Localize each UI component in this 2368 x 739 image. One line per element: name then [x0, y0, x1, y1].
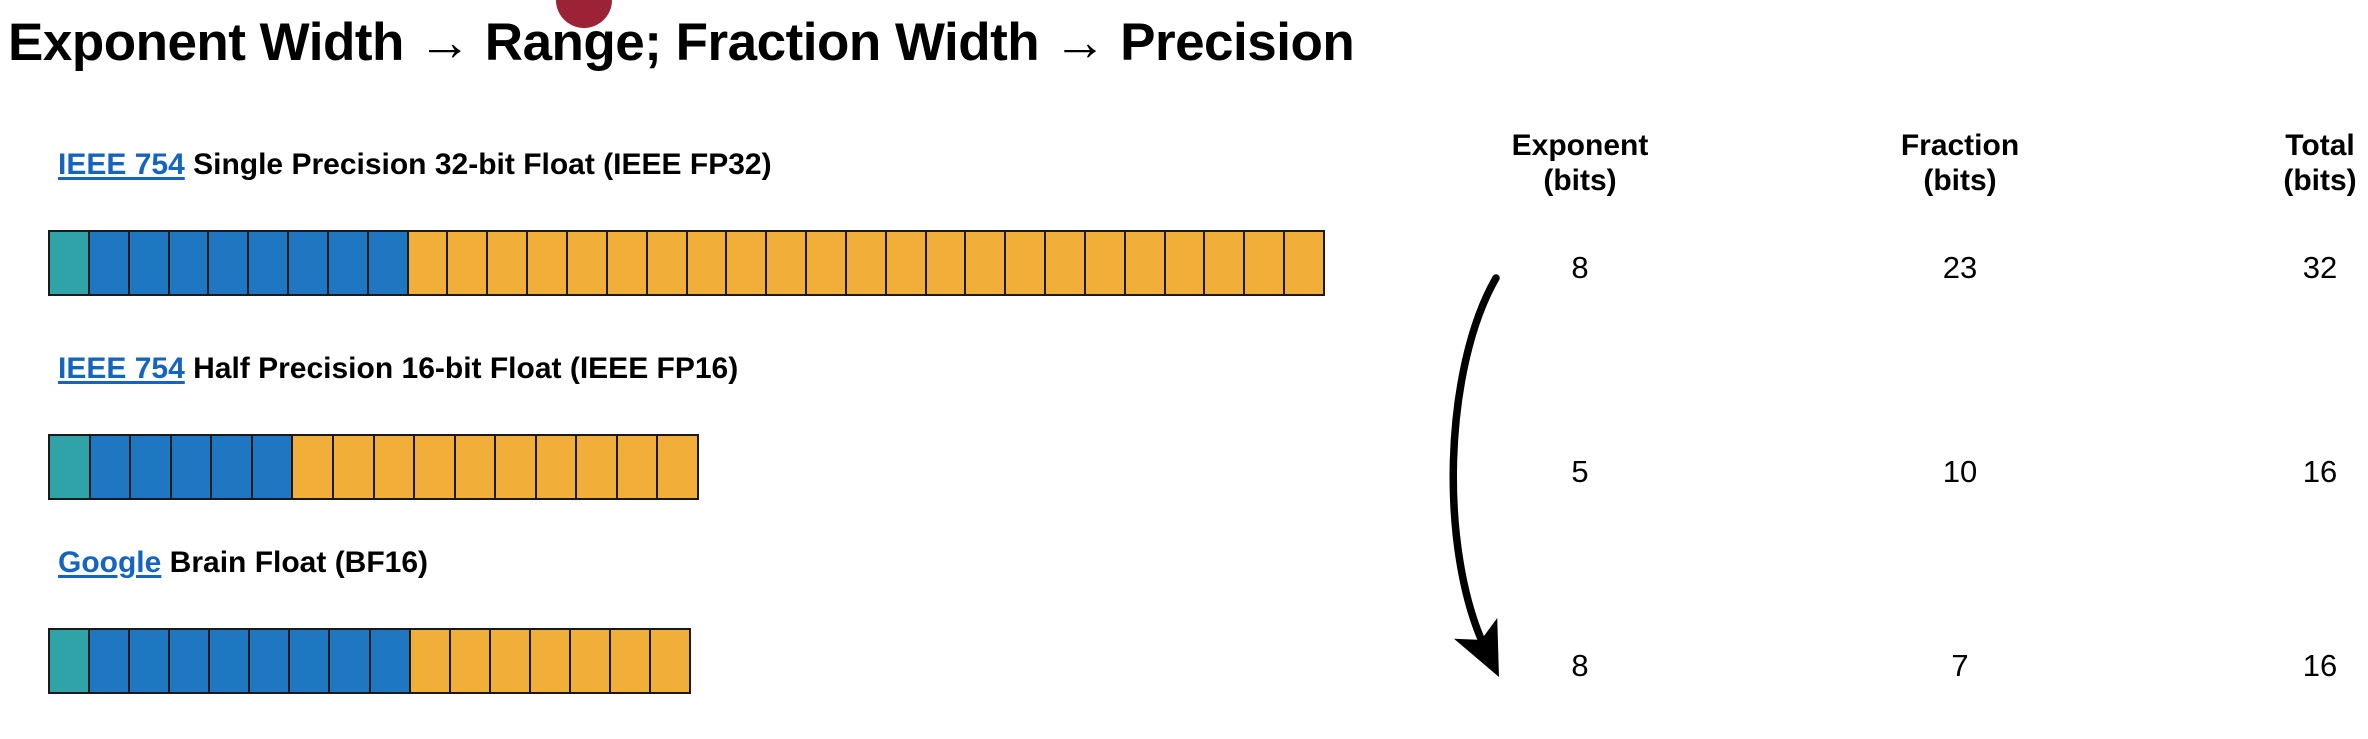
fraction-bit-cell [648, 232, 688, 294]
fraction-bit-cell [409, 232, 449, 294]
fraction-bit-cell [334, 436, 375, 498]
column-header-exponent-name: Exponent [1512, 129, 1649, 162]
format-link-fp32[interactable]: IEEE 754 [58, 148, 185, 181]
format-label-text-bf16: Brain Float (BF16) [161, 546, 428, 579]
table-cell-fraction: 23 [1820, 250, 2100, 286]
exponent-bit-cell [371, 630, 411, 692]
exponent-bit-cell [131, 436, 172, 498]
exponent-bit-cell [209, 232, 249, 294]
fraction-bit-cell [807, 232, 847, 294]
sign-bit-cell [50, 630, 90, 692]
exponent-bit-cell [249, 232, 289, 294]
fraction-bit-cell [456, 436, 497, 498]
table-cell-fraction: 7 [1820, 648, 2100, 684]
column-header-total-unit: (bits) [2180, 163, 2368, 198]
fraction-bit-cell [568, 232, 608, 294]
fraction-bit-cell [887, 232, 927, 294]
bit-layout-bar-fp32 [48, 230, 1325, 296]
exponent-bit-cell [250, 630, 290, 692]
column-header-exponent: Exponent (bits) [1440, 128, 1720, 199]
exponent-bit-cell [290, 630, 330, 692]
fraction-bit-cell [411, 630, 451, 692]
sign-bit-cell [50, 436, 91, 498]
fraction-bit-cell [528, 232, 568, 294]
fraction-bit-cell [1205, 232, 1245, 294]
fraction-bit-cell [651, 630, 689, 692]
fraction-bit-cell [727, 232, 767, 294]
table-cell-total: 32 [2180, 250, 2368, 286]
fraction-bit-cell [1285, 232, 1323, 294]
fraction-bit-cell [571, 630, 611, 692]
exponent-bit-cell [172, 436, 213, 498]
fraction-bit-cell [611, 630, 651, 692]
table-cell-exponent: 8 [1440, 648, 1720, 684]
fraction-bit-cell [496, 436, 537, 498]
exponent-bit-cell [90, 232, 130, 294]
fraction-bit-cell [1126, 232, 1166, 294]
fraction-bit-cell [1245, 232, 1285, 294]
table-cell-total: 16 [2180, 648, 2368, 684]
column-header-total-name: Total [2285, 129, 2354, 162]
slide-canvas: Exponent Width → Range; Fraction Width →… [0, 0, 2368, 739]
fraction-bit-cell [1046, 232, 1086, 294]
exponent-bit-cell [329, 232, 369, 294]
fraction-bit-cell [577, 436, 618, 498]
fraction-bit-cell [618, 436, 659, 498]
table-cell-exponent: 5 [1440, 454, 1720, 490]
fraction-bit-cell [608, 232, 648, 294]
exponent-bit-cell [170, 232, 210, 294]
table-cell-exponent: 8 [1440, 250, 1720, 286]
format-link-fp16[interactable]: IEEE 754 [58, 352, 185, 385]
bit-width-table: Exponent (bits) Fraction (bits) Total (b… [1400, 0, 2368, 739]
exponent-bit-cell [170, 630, 210, 692]
fraction-bit-cell [375, 436, 416, 498]
fraction-bit-cell [537, 436, 578, 498]
fraction-bit-cell [491, 630, 531, 692]
exponent-bit-cell [253, 436, 294, 498]
fraction-bit-cell [1166, 232, 1206, 294]
exponent-bit-cell [130, 232, 170, 294]
fraction-bit-cell [927, 232, 967, 294]
fraction-bit-cell [293, 436, 334, 498]
exponent-bit-cell [130, 630, 170, 692]
exponent-bit-cell [289, 232, 329, 294]
fraction-bit-cell [448, 232, 488, 294]
format-label-text-fp32: Single Precision 32-bit Float (IEEE FP32… [185, 148, 772, 181]
fraction-bit-cell [451, 630, 491, 692]
format-link-bf16[interactable]: Google [58, 546, 161, 579]
exponent-bit-cell [330, 630, 370, 692]
exponent-bit-cell [369, 232, 409, 294]
column-header-total: Total (bits) [2180, 128, 2368, 199]
exponent-bit-cell [210, 630, 250, 692]
format-label-bf16: Google Brain Float (BF16) [58, 546, 428, 580]
fraction-bit-cell [767, 232, 807, 294]
exponent-bit-cell [91, 436, 132, 498]
fraction-bit-cell [488, 232, 528, 294]
column-header-fraction-name: Fraction [1901, 129, 2019, 162]
column-header-fraction: Fraction (bits) [1820, 128, 2100, 199]
fraction-bit-cell [688, 232, 728, 294]
fraction-bit-cell [1086, 232, 1126, 294]
table-cell-fraction: 10 [1820, 454, 2100, 490]
exponent-bit-cell [212, 436, 253, 498]
fraction-bit-cell [847, 232, 887, 294]
page-title: Exponent Width → Range; Fraction Width →… [8, 12, 1354, 73]
table-cell-total: 16 [2180, 454, 2368, 490]
fraction-bit-cell [658, 436, 697, 498]
fraction-bit-cell [415, 436, 456, 498]
format-label-fp32: IEEE 754 Single Precision 32-bit Float (… [58, 148, 772, 182]
format-label-fp16: IEEE 754 Half Precision 16-bit Float (IE… [58, 352, 738, 386]
fraction-bit-cell [966, 232, 1006, 294]
format-label-text-fp16: Half Precision 16-bit Float (IEEE FP16) [185, 352, 738, 385]
bit-layout-bar-fp16 [48, 434, 699, 500]
column-header-exponent-unit: (bits) [1440, 163, 1720, 198]
fraction-bit-cell [1006, 232, 1046, 294]
column-header-fraction-unit: (bits) [1820, 163, 2100, 198]
sign-bit-cell [50, 232, 90, 294]
bit-layout-bar-bf16 [48, 628, 691, 694]
exponent-bit-cell [90, 630, 130, 692]
fraction-bit-cell [531, 630, 571, 692]
